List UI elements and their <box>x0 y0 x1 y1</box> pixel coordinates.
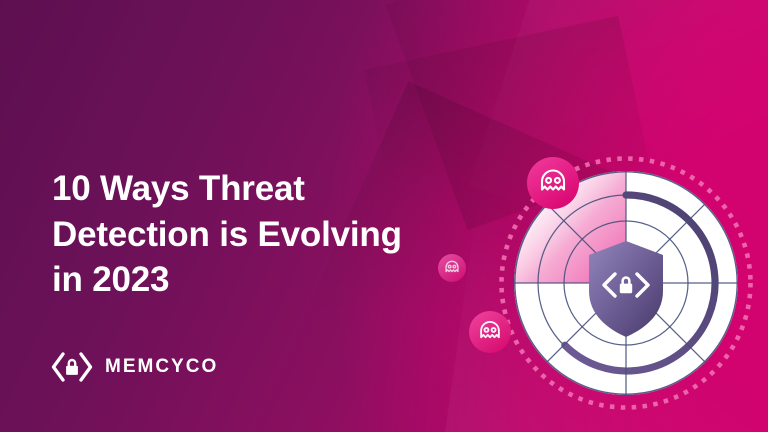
memcyco-logo[interactable]: MEMCYCO <box>50 347 218 387</box>
headline-line-1: 10 Ways Threat <box>52 166 482 212</box>
headline-line-2: Detection is Evolving <box>52 212 482 258</box>
social-card: 10 Ways Threat Detection is Evolving in … <box>0 0 768 432</box>
threat-badge-ghost-1 <box>527 157 579 209</box>
page-title: 10 Ways Threat Detection is Evolving in … <box>52 166 482 303</box>
logo-wordmark: MEMCYCO <box>105 356 218 378</box>
threat-detection-radar <box>480 137 768 429</box>
headline-line-3: in 2023 <box>52 257 482 303</box>
memcyco-lock-brackets-icon <box>50 347 94 387</box>
lock-glyph <box>66 359 78 375</box>
threat-badge-ghost-3 <box>469 311 511 353</box>
